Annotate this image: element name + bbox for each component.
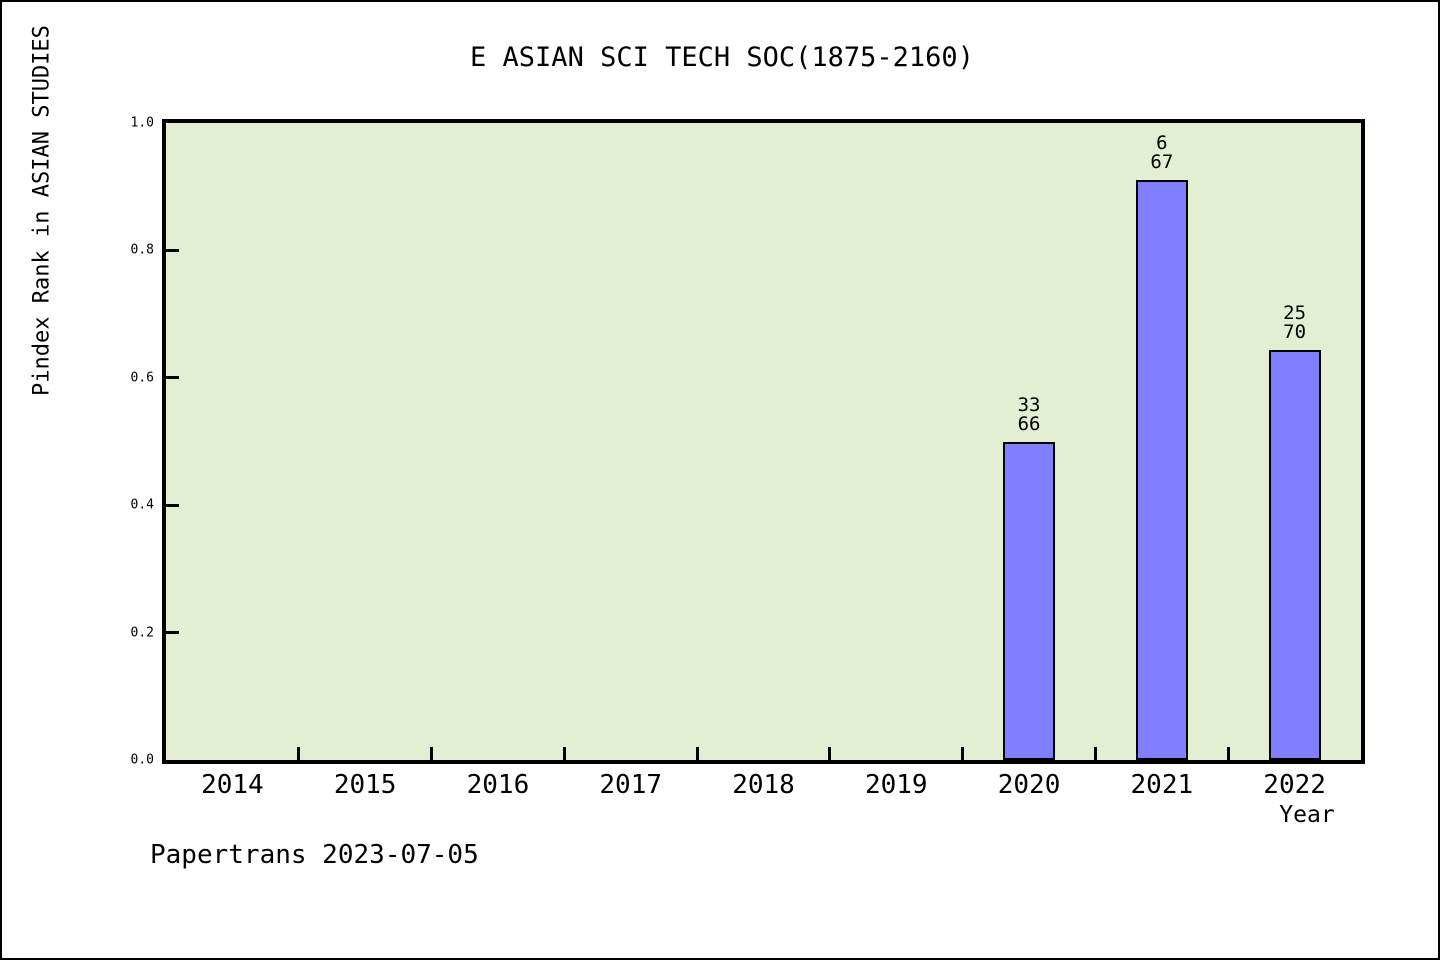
plot-area: 33666672570 bbox=[162, 119, 1365, 764]
x-axis-tick-mark bbox=[961, 747, 964, 760]
chart-title: E ASIAN SCI TECH SOC(1875-2160) bbox=[2, 42, 1440, 73]
y-axis-tick-mark bbox=[166, 631, 179, 634]
x-axis-tick-label: 2022 bbox=[1225, 770, 1365, 800]
x-axis-tick-label: 2017 bbox=[561, 770, 701, 800]
y-axis-tick-label: 0.6 bbox=[96, 370, 154, 385]
x-axis-tick-label: 2018 bbox=[694, 770, 834, 800]
y-axis-tick-mark bbox=[166, 249, 179, 252]
bar-value-label-line: 70 bbox=[1215, 323, 1375, 342]
y-axis-tick-label: 0.8 bbox=[96, 243, 154, 258]
footer-annotation: Papertrans 2023-07-05 bbox=[150, 840, 479, 870]
y-axis-title: Pindex Rank in ASIAN STUDIES bbox=[30, 0, 55, 771]
x-axis-title: Year bbox=[1242, 802, 1372, 828]
chart-figure: E ASIAN SCI TECH SOC(1875-2160) Pindex R… bbox=[0, 0, 1440, 960]
x-axis-tick-mark bbox=[828, 747, 831, 760]
y-axis-tick-label: 0.4 bbox=[96, 498, 154, 513]
bar-value-label: 667 bbox=[1082, 134, 1242, 172]
x-axis-tick-label: 2014 bbox=[162, 770, 302, 800]
x-axis-tick-label: 2020 bbox=[959, 770, 1099, 800]
bar-value-label-line: 66 bbox=[949, 415, 1109, 434]
x-axis-tick-label: 2021 bbox=[1092, 770, 1232, 800]
bar-value-label-line: 6 bbox=[1082, 134, 1242, 153]
y-axis-tick-label: 0.0 bbox=[96, 753, 154, 768]
x-axis-tick-mark bbox=[1094, 747, 1097, 760]
x-axis-tick-mark bbox=[430, 747, 433, 760]
y-axis-tick-mark bbox=[166, 504, 179, 507]
x-axis-tick-mark bbox=[696, 747, 699, 760]
bar[interactable] bbox=[1003, 442, 1055, 761]
bar-value-label: 2570 bbox=[1215, 304, 1375, 342]
x-axis-tick-mark bbox=[297, 747, 300, 760]
bar[interactable] bbox=[1136, 180, 1188, 760]
x-axis-tick-mark bbox=[563, 747, 566, 760]
bar[interactable] bbox=[1269, 350, 1321, 760]
bar-value-label: 3366 bbox=[949, 396, 1109, 434]
x-axis-tick-label: 2016 bbox=[428, 770, 568, 800]
x-axis-tick-label: 2015 bbox=[295, 770, 435, 800]
x-axis-tick-mark bbox=[1227, 747, 1230, 760]
y-axis-tick-label: 1.0 bbox=[96, 116, 154, 131]
x-axis-tick-label: 2019 bbox=[826, 770, 966, 800]
bar-value-label-line: 67 bbox=[1082, 153, 1242, 172]
y-axis-tick-mark bbox=[166, 376, 179, 379]
bar-value-label-line: 33 bbox=[949, 396, 1109, 415]
plot-inner: 33666672570 bbox=[166, 123, 1361, 760]
y-axis-tick-label: 0.2 bbox=[96, 625, 154, 640]
